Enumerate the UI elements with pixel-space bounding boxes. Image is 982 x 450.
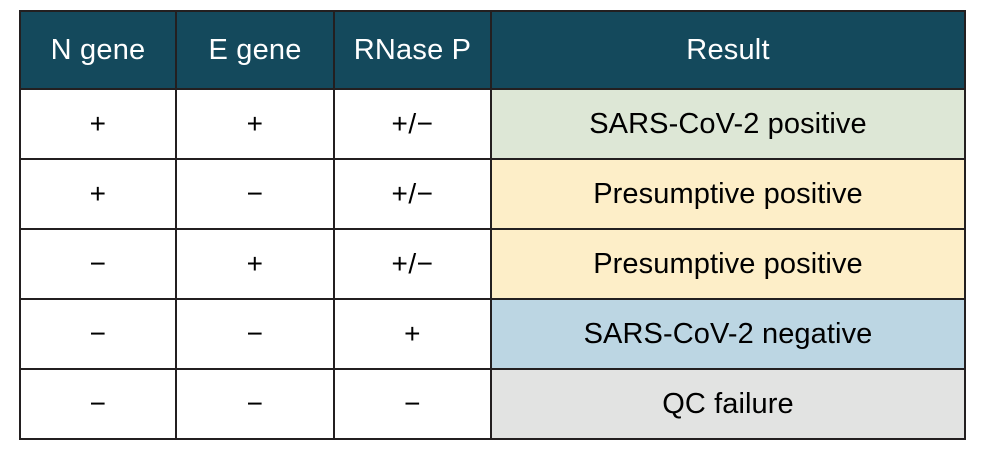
table-row: − − + SARS-CoV-2 negative [20,299,965,369]
table-row: − + +/− Presumptive positive [20,229,965,299]
cell-n-gene: + [20,159,176,229]
cell-e-gene: + [176,89,334,159]
cell-n-gene: − [20,299,176,369]
cell-rnase-p: + [334,299,491,369]
table-row: + − +/− Presumptive positive [20,159,965,229]
header-row: N gene E gene RNase P Result [20,11,965,89]
cell-e-gene: − [176,299,334,369]
cell-e-gene: − [176,159,334,229]
cell-rnase-p: +/− [334,159,491,229]
column-header-rnase-p: RNase P [334,11,491,89]
cell-e-gene: + [176,229,334,299]
cell-rnase-p: − [334,369,491,439]
result-interpretation-table: N gene E gene RNase P Result + + +/− SAR… [19,10,966,440]
cell-rnase-p: +/− [334,89,491,159]
cell-n-gene: − [20,369,176,439]
table-header: N gene E gene RNase P Result [20,11,965,89]
column-header-e-gene: E gene [176,11,334,89]
table-body: + + +/− SARS-CoV-2 positive + − +/− Pres… [20,89,965,439]
column-header-n-gene: N gene [20,11,176,89]
table-row: + + +/− SARS-CoV-2 positive [20,89,965,159]
cell-n-gene: + [20,89,176,159]
cell-rnase-p: +/− [334,229,491,299]
cell-e-gene: − [176,369,334,439]
cell-result: Presumptive positive [491,159,965,229]
column-header-result: Result [491,11,965,89]
result-table-container: N gene E gene RNase P Result + + +/− SAR… [19,10,964,439]
cell-result: Presumptive positive [491,229,965,299]
cell-result: SARS-CoV-2 negative [491,299,965,369]
cell-result: QC failure [491,369,965,439]
table-row: − − − QC failure [20,369,965,439]
cell-result: SARS-CoV-2 positive [491,89,965,159]
cell-n-gene: − [20,229,176,299]
